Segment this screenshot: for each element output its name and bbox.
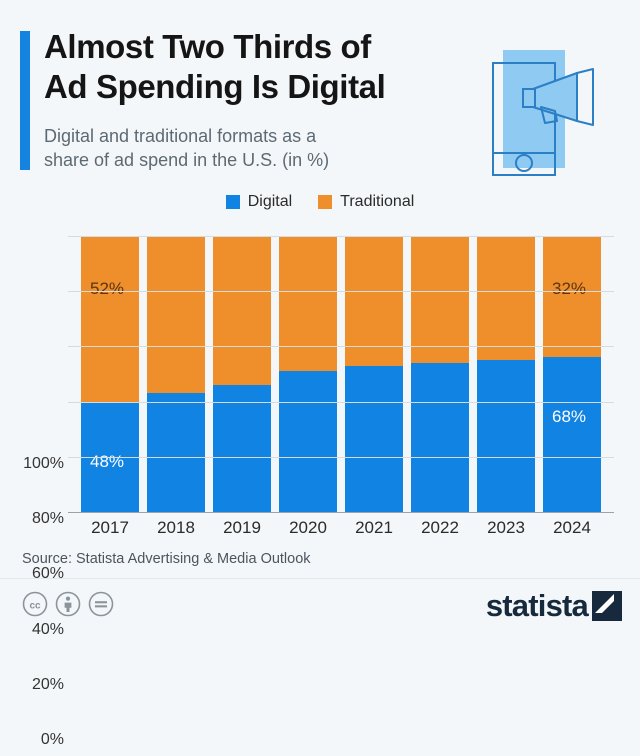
x-axis-tick-label: 2021 [345,518,403,538]
source-note: Source: Statista Advertising & Media Out… [22,551,311,567]
page-subtitle: Digital and traditional formats as a sha… [44,124,444,172]
cc-by-person-icon[interactable] [55,591,81,622]
bar-segment-digital[interactable] [477,360,535,512]
legend-item-traditional[interactable]: Traditional [318,193,414,211]
gridline [68,512,614,513]
bar-value-label: 52% [90,279,124,299]
smartphone-megaphone-illustration [485,45,610,180]
bar-segment-digital[interactable] [345,366,403,512]
bar-segment-digital[interactable] [213,385,271,512]
bar-segment-traditional[interactable] [477,236,535,360]
y-axis-tick-label: 0% [0,732,64,748]
x-axis-tick-label: 2019 [213,518,271,538]
bar-segment-traditional[interactable] [81,236,139,402]
bar-segment-traditional[interactable] [147,236,205,393]
gridline [68,402,614,403]
svg-text:cc: cc [29,601,41,612]
bar-segment-traditional[interactable] [411,236,469,363]
y-axis-tick-label: 100% [0,456,64,472]
creative-commons-icons: cc [22,591,114,622]
bar-group[interactable] [411,236,469,512]
legend-label-digital: Digital [248,193,292,211]
subtitle-line-1: Digital and traditional formats as a [44,124,444,148]
x-axis-tick-label: 2022 [411,518,469,538]
legend-item-digital[interactable]: Digital [226,193,292,211]
statista-logo[interactable]: statista [486,590,622,621]
title-line-1: Almost Two Thirds of [44,27,474,67]
plot-area: 52%48%32%68% [77,236,605,512]
bar-group[interactable] [213,236,271,512]
bar-group[interactable] [147,236,205,512]
bar-segment-traditional[interactable] [213,236,271,385]
bar-group[interactable] [477,236,535,512]
legend-swatch-traditional [318,195,332,209]
header: Almost Two Thirds of Ad Spending Is Digi… [0,0,640,180]
bar-series-container: 52%48%32%68% [77,236,605,512]
stacked-bar-chart: 0%20%40%60%80%100% 52%48%32%68% 20172018… [0,228,640,528]
gridline [68,291,614,292]
bar-group[interactable]: 52%48% [81,236,139,512]
title-accent-bar [20,31,30,170]
statista-logo-text: statista [486,590,588,621]
title-line-2: Ad Spending Is Digital [44,67,474,107]
legend-swatch-digital [226,195,240,209]
y-axis-tick-label: 60% [0,566,64,582]
bar-segment-digital[interactable] [279,371,337,512]
bar-segment-digital[interactable] [411,363,469,512]
subtitle-line-2: share of ad spend in the U.S. (in %) [44,148,444,172]
bar-segment-traditional[interactable] [279,236,337,371]
legend-label-traditional: Traditional [340,193,414,211]
bar-segment-digital[interactable] [147,393,205,512]
statista-logo-mark [592,591,622,621]
bar-segment-digital[interactable] [543,357,601,512]
bar-group[interactable] [279,236,337,512]
gridline [68,346,614,347]
x-axis-tick-label: 2017 [81,518,139,538]
page-title: Almost Two Thirds of Ad Spending Is Digi… [44,27,474,107]
x-axis-tick-label: 2018 [147,518,205,538]
gridline [68,236,614,237]
x-axis-tick-label: 2024 [543,518,601,538]
x-axis-tick-label: 2023 [477,518,535,538]
footer-divider [0,578,640,579]
chart-legend: Digital Traditional [0,190,640,214]
bar-value-label: 32% [552,279,586,299]
gridline [68,457,614,458]
infographic-canvas: Almost Two Thirds of Ad Spending Is Digi… [0,0,640,640]
bar-group[interactable] [345,236,403,512]
x-axis-labels: 20172018201920202021202220232024 [77,518,605,542]
cc-icon[interactable]: cc [22,591,48,622]
y-axis-tick-label: 20% [0,677,64,693]
cc-nd-equals-icon[interactable] [88,591,114,622]
bar-value-label: 68% [552,407,586,427]
bar-value-label: 48% [90,452,124,472]
x-axis-tick-label: 2020 [279,518,337,538]
bar-group[interactable]: 32%68% [543,236,601,512]
y-axis-tick-label: 80% [0,511,64,527]
y-axis-tick-label: 40% [0,622,64,638]
